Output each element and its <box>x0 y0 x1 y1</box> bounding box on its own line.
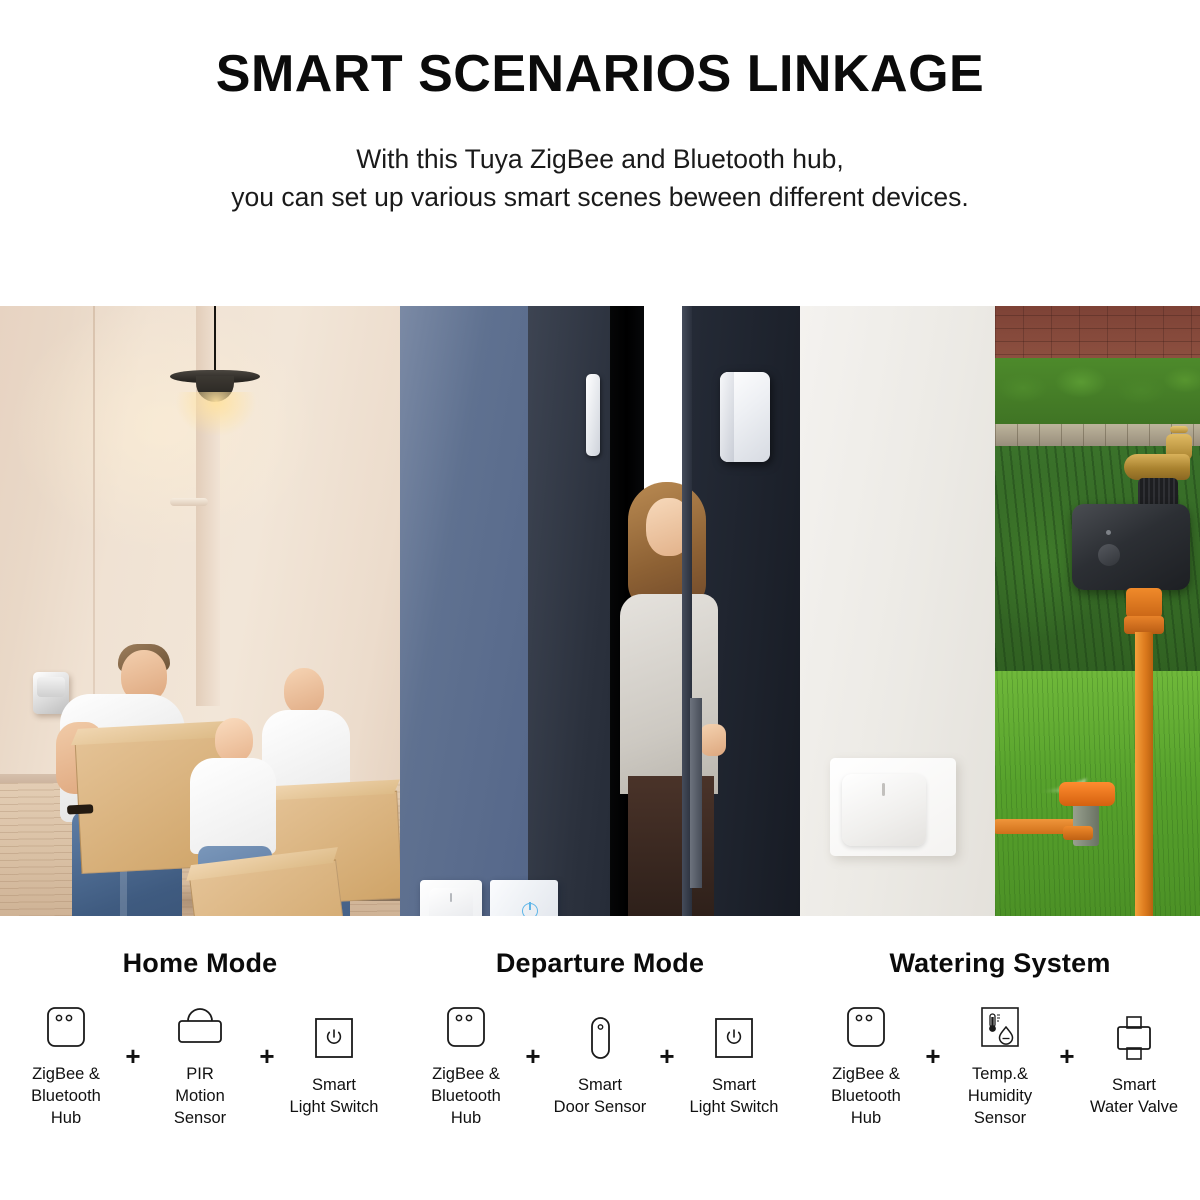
device-slot-door-sensor: Smart Door Sensor <box>548 1012 652 1119</box>
device-chain: ZigBee & Bluetooth Hub + PIR Motion Sens… <box>0 1001 400 1130</box>
device-slot-temp-humidity: Temp.& Humidity Sensor <box>948 1001 1052 1130</box>
group-title: Departure Mode <box>400 948 800 979</box>
door-lock-plate <box>690 698 702 888</box>
pir-motion-sensor-icon <box>173 1001 227 1053</box>
box-grip <box>67 804 93 814</box>
device-slot-switch: Smart Light Switch <box>682 1012 786 1119</box>
group-title: Watering System <box>800 948 1200 979</box>
hub-icon <box>45 1001 87 1053</box>
woman-hand <box>700 724 726 756</box>
cardboard-box-child <box>189 859 351 916</box>
hose-fitting <box>1126 588 1162 618</box>
interior-door <box>196 306 220 706</box>
power-led-icon <box>522 903 538 916</box>
device-caption: Temp.& Humidity Sensor <box>948 1064 1052 1130</box>
plus-separator: + <box>652 1041 682 1090</box>
white-wall <box>800 306 995 916</box>
door-sensor-body <box>720 372 770 462</box>
mother-head <box>284 668 324 714</box>
device-slot-pir: PIR Motion Sensor <box>148 1001 252 1130</box>
sprinkler-connector <box>1063 826 1093 840</box>
watering-scene-photo <box>800 306 1200 916</box>
device-caption: Smart Light Switch <box>290 1075 379 1119</box>
light-switch-icon <box>713 1012 755 1064</box>
device-slot-water-valve: Smart Water Valve <box>1082 1012 1186 1119</box>
scenario-groups: Home Mode ZigBee & Bluetooth Hub + PIR M… <box>0 916 1200 1200</box>
device-slot-switch: Smart Light Switch <box>282 1012 386 1119</box>
entry-wall <box>400 306 528 916</box>
device-caption: PIR Motion Sensor <box>148 1064 252 1130</box>
scenario-home-mode: Home Mode ZigBee & Bluetooth Hub + PIR M… <box>0 916 400 1200</box>
garden-hose-vertical <box>1135 632 1153 916</box>
lamp-glow <box>160 392 272 488</box>
departure-scene-photo <box>400 306 800 916</box>
valve-button <box>1098 544 1120 566</box>
water-spray <box>995 642 1119 792</box>
subtitle-line-2: you can set up various smart scenes bewe… <box>0 178 1200 217</box>
zigbee-bluetooth-hub-device <box>429 888 473 916</box>
door-sensor-magnet <box>586 374 600 456</box>
wall-corner <box>93 306 95 696</box>
brass-garden-tap <box>1124 454 1190 480</box>
header: SMART SCENARIOS LINKAGE With this Tuya Z… <box>0 0 1200 217</box>
hub-icon <box>845 1001 887 1053</box>
group-title: Home Mode <box>0 948 400 979</box>
smart-touch-light-switch <box>490 880 558 916</box>
device-chain: ZigBee & Bluetooth Hub + Smart Door Sens… <box>400 1001 800 1130</box>
subtitle-line-1: With this Tuya ZigBee and Bluetooth hub, <box>356 144 844 174</box>
device-caption: ZigBee & Bluetooth Hub <box>414 1064 518 1130</box>
device-slot-hub: ZigBee & Bluetooth Hub <box>414 1001 518 1130</box>
page-subtitle: With this Tuya ZigBee and Bluetooth hub,… <box>0 140 1200 217</box>
scenario-departure-mode: Departure Mode ZigBee & Bluetooth Hub + … <box>400 916 800 1200</box>
child-head <box>215 718 253 762</box>
light-switch-icon <box>313 1012 355 1064</box>
garden-photo <box>995 306 1200 916</box>
door-sensor-icon <box>583 1012 617 1064</box>
device-caption: ZigBee & Bluetooth Hub <box>14 1064 118 1130</box>
plus-separator: + <box>252 1041 282 1090</box>
device-caption: ZigBee & Bluetooth Hub <box>814 1064 918 1130</box>
device-slot-hub: ZigBee & Bluetooth Hub <box>814 1001 918 1130</box>
plus-separator: + <box>918 1041 948 1090</box>
zigbee-bluetooth-hub-device <box>842 774 926 846</box>
door-handle <box>170 498 208 506</box>
water-valve-icon <box>1111 1012 1157 1064</box>
device-caption: Smart Door Sensor <box>554 1075 647 1119</box>
device-caption: Smart Water Valve <box>1090 1075 1178 1119</box>
pendant-lamp-cord <box>214 306 216 372</box>
plus-separator: + <box>118 1041 148 1090</box>
home-scene-photo <box>0 306 400 916</box>
valve-status-led <box>1106 530 1111 535</box>
plus-separator: + <box>518 1041 548 1090</box>
tap-handle-top <box>1170 426 1188 433</box>
plus-separator: + <box>1052 1041 1082 1090</box>
device-chain: ZigBee & Bluetooth Hub + Temp.& Humidity… <box>800 1001 1200 1130</box>
scene-photo-strip <box>0 306 1200 916</box>
temp-humidity-sensor-icon <box>978 1001 1022 1053</box>
sprinkler-head <box>1059 782 1115 806</box>
hub-icon <box>445 1001 487 1053</box>
scenario-watering-system: Watering System ZigBee & Bluetooth Hub +… <box>800 916 1200 1200</box>
woman-cardigan <box>620 594 718 794</box>
page-title: SMART SCENARIOS LINKAGE <box>0 47 1200 102</box>
smart-water-valve-device <box>1072 504 1190 590</box>
child-body <box>190 758 276 854</box>
device-slot-hub: ZigBee & Bluetooth Hub <box>14 1001 118 1130</box>
device-caption: Smart Light Switch <box>690 1075 779 1119</box>
